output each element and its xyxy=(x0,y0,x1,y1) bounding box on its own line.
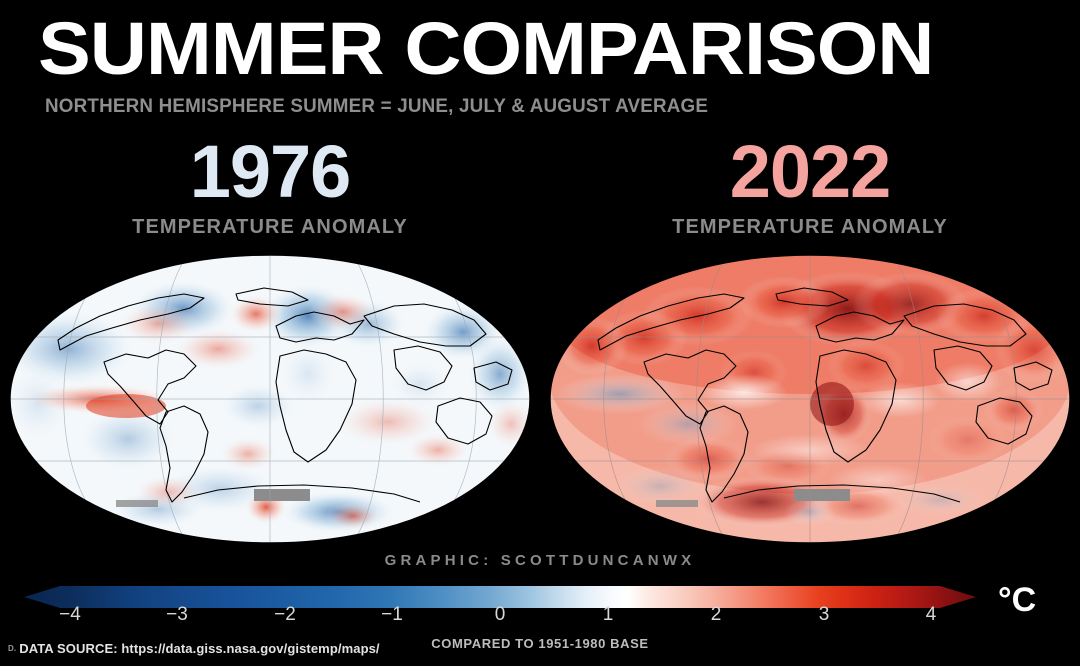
colorbar-tick-7: 3 xyxy=(819,604,830,626)
anomaly-caption-1976: TEMPERATURE ANOMALY xyxy=(0,216,540,239)
colorbar-tick-5: 1 xyxy=(603,604,614,626)
page-subtitle: NORTHERN HEMISPHERE SUMMER = JUNE, JULY … xyxy=(45,96,708,118)
data-source-note: D.DATA SOURCE: https://data.giss.nasa.go… xyxy=(8,641,380,656)
colorbar-tick-2: −2 xyxy=(274,604,296,626)
colorbar-unit-label: °C xyxy=(998,581,1036,620)
colorbar-tick-1: −3 xyxy=(166,604,188,626)
panel-1976: 1976 TEMPERATURE ANOMALY xyxy=(0,132,540,552)
map-2022-svg xyxy=(548,254,1072,544)
colorbar-tick-4: 0 xyxy=(495,604,506,626)
page-title: SUMMER COMPARISON xyxy=(38,8,1080,90)
map-2022 xyxy=(548,254,1072,544)
colorbar-tick-6: 2 xyxy=(711,604,722,626)
colorbar-tick-3: −1 xyxy=(381,604,403,626)
map-1976 xyxy=(8,254,532,544)
year-label-2022: 2022 xyxy=(540,132,1080,212)
year-label-1976: 1976 xyxy=(0,132,540,212)
anomaly-caption-2022: TEMPERATURE ANOMALY xyxy=(540,216,1080,239)
graphic-credit: GRAPHIC: SCOTTDUNCANWX xyxy=(0,552,1080,569)
colorbar-ticks: −4 −3 −2 −1 0 1 2 3 4 xyxy=(0,604,1080,628)
colorbar-tick-8: 4 xyxy=(926,604,937,626)
infographic-root: SUMMER COMPARISON NORTHERN HEMISPHERE SU… xyxy=(0,0,1080,666)
colorbar-tick-0: −4 xyxy=(59,604,81,626)
data-source-prefix: D. xyxy=(8,644,16,653)
map-1976-svg xyxy=(8,254,532,544)
data-source-text: DATA SOURCE: https://data.giss.nasa.gov/… xyxy=(19,641,379,656)
panel-2022: 2022 TEMPERATURE ANOMALY xyxy=(540,132,1080,552)
